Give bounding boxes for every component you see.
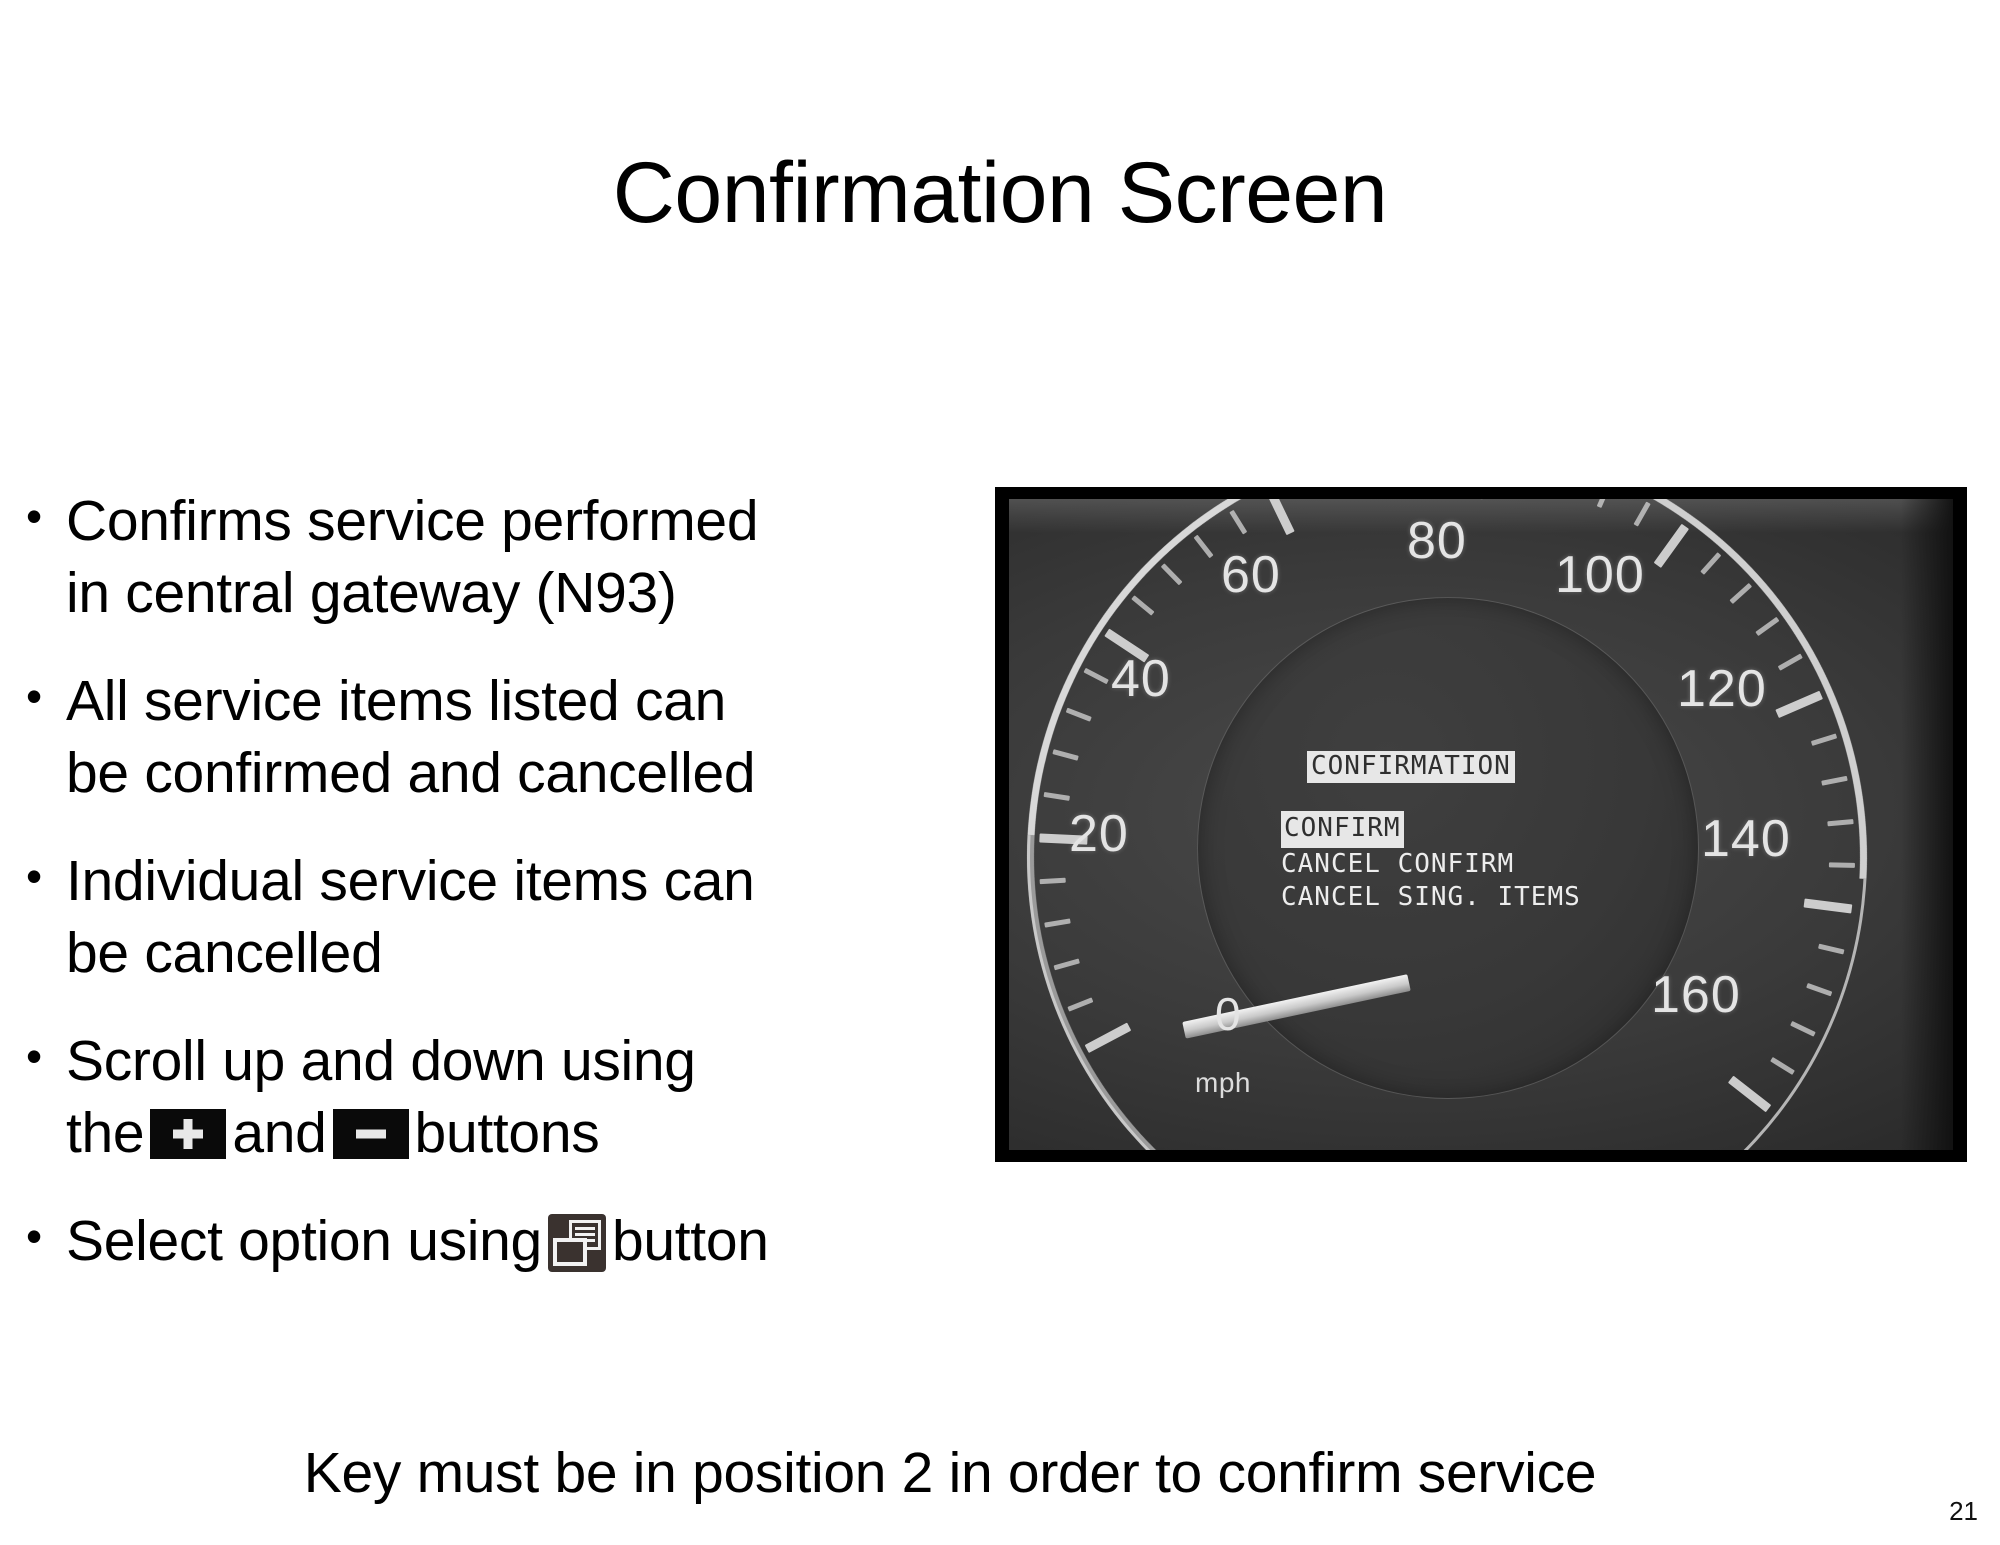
bullet-list: • Confirms service performed in central … xyxy=(26,485,956,1313)
page-number: 21 xyxy=(1949,1496,1978,1527)
dial-number-40: 40 xyxy=(1111,649,1171,709)
dial-number-100: 100 xyxy=(1555,545,1645,605)
tick-minor xyxy=(1040,877,1066,884)
bullet-line-1: Confirms service performed xyxy=(66,489,758,553)
bullet-text: Individual service items can be cancelle… xyxy=(66,845,755,989)
lcd-menu-item-cancel-sing-items[interactable]: CANCEL SING. ITEMS xyxy=(1281,882,1581,912)
dial-number-60: 60 xyxy=(1221,545,1281,605)
lcd-display: CONFIRMATION CONFIRM CANCEL CONFIRM CANC… xyxy=(1281,751,1641,914)
lcd-menu: CONFIRM CANCEL CONFIRM CANCEL SING. ITEM… xyxy=(1281,811,1641,914)
window-front-icon xyxy=(553,1238,587,1266)
footer-note: Key must be in position 2 in order to co… xyxy=(0,1440,1900,1506)
lcd-menu-item-confirm[interactable]: CONFIRM xyxy=(1281,811,1404,847)
bullet-line-2-prefix: the xyxy=(66,1101,144,1165)
dial-unit-label: mph xyxy=(1195,1067,1251,1099)
lcd-menu-row: CANCEL SING. ITEMS xyxy=(1281,881,1641,914)
bullet-text: Select option usingbutton xyxy=(66,1205,769,1277)
dial-number-20: 20 xyxy=(1069,804,1129,864)
bullet-text: All service items listed can be confirme… xyxy=(66,665,755,809)
dial-number-120: 120 xyxy=(1677,659,1767,719)
lcd-header: CONFIRMATION xyxy=(1307,751,1515,783)
bullet-text: Scroll up and down using theandbuttons xyxy=(66,1025,696,1169)
bullet-marker-icon: • xyxy=(26,485,66,547)
bullet-marker-icon: • xyxy=(26,665,66,727)
list-item-confirms-service: • Confirms service performed in central … xyxy=(26,485,956,629)
bullet-line-1: All service items listed can xyxy=(66,669,726,733)
list-item-individual-service-items: • Individual service items can be cancel… xyxy=(26,845,956,989)
list-item-scroll-up-down: • Scroll up and down using theandbuttons xyxy=(26,1025,956,1169)
bullet-line-1: Individual service items can xyxy=(66,849,755,913)
tick-minor xyxy=(1829,862,1855,867)
bullet-marker-icon: • xyxy=(26,1205,66,1267)
select-window-button-icon xyxy=(548,1214,606,1272)
lcd-menu-row: CONFIRM xyxy=(1281,811,1641,847)
bullet-line-1-suffix: button xyxy=(612,1209,769,1273)
dial-number-140: 140 xyxy=(1701,809,1791,869)
bullet-line-2: be confirmed and cancelled xyxy=(66,737,755,809)
lcd-menu-item-cancel-confirm[interactable]: CANCEL CONFIRM xyxy=(1281,849,1514,879)
page-title: Confirmation Screen xyxy=(0,150,2000,236)
plus-button-icon xyxy=(150,1109,226,1159)
bullet-line-2-middle: and xyxy=(232,1101,326,1165)
dial-number-80: 80 xyxy=(1407,511,1467,571)
bullet-line-2: theandbuttons xyxy=(66,1097,696,1169)
lcd-menu-row: CANCEL CONFIRM xyxy=(1281,848,1641,881)
bullet-marker-icon: • xyxy=(26,1025,66,1087)
dial-number-zero: 0 xyxy=(1215,987,1241,1041)
bullet-line-1: Scroll up and down using xyxy=(66,1029,696,1093)
bullet-line-1-prefix: Select option using xyxy=(66,1209,542,1273)
list-item-all-service-items: • All service items listed can be confir… xyxy=(26,665,956,809)
minus-button-icon xyxy=(333,1109,409,1159)
dial-number-160: 160 xyxy=(1651,965,1741,1025)
instrument-cluster-photo: 20 40 60 80 100 120 140 160 0 mph CONFIR… xyxy=(995,487,1967,1162)
bullet-line-2: be cancelled xyxy=(66,917,755,989)
list-item-select-option: • Select option usingbutton xyxy=(26,1205,956,1277)
bullet-line-2: in central gateway (N93) xyxy=(66,557,758,629)
bullet-marker-icon: • xyxy=(26,845,66,907)
bullet-line-2-suffix: buttons xyxy=(415,1101,600,1165)
bullet-text: Confirms service performed in central ga… xyxy=(66,485,758,629)
cluster-photo-inner: 20 40 60 80 100 120 140 160 0 mph CONFIR… xyxy=(1009,499,1953,1150)
